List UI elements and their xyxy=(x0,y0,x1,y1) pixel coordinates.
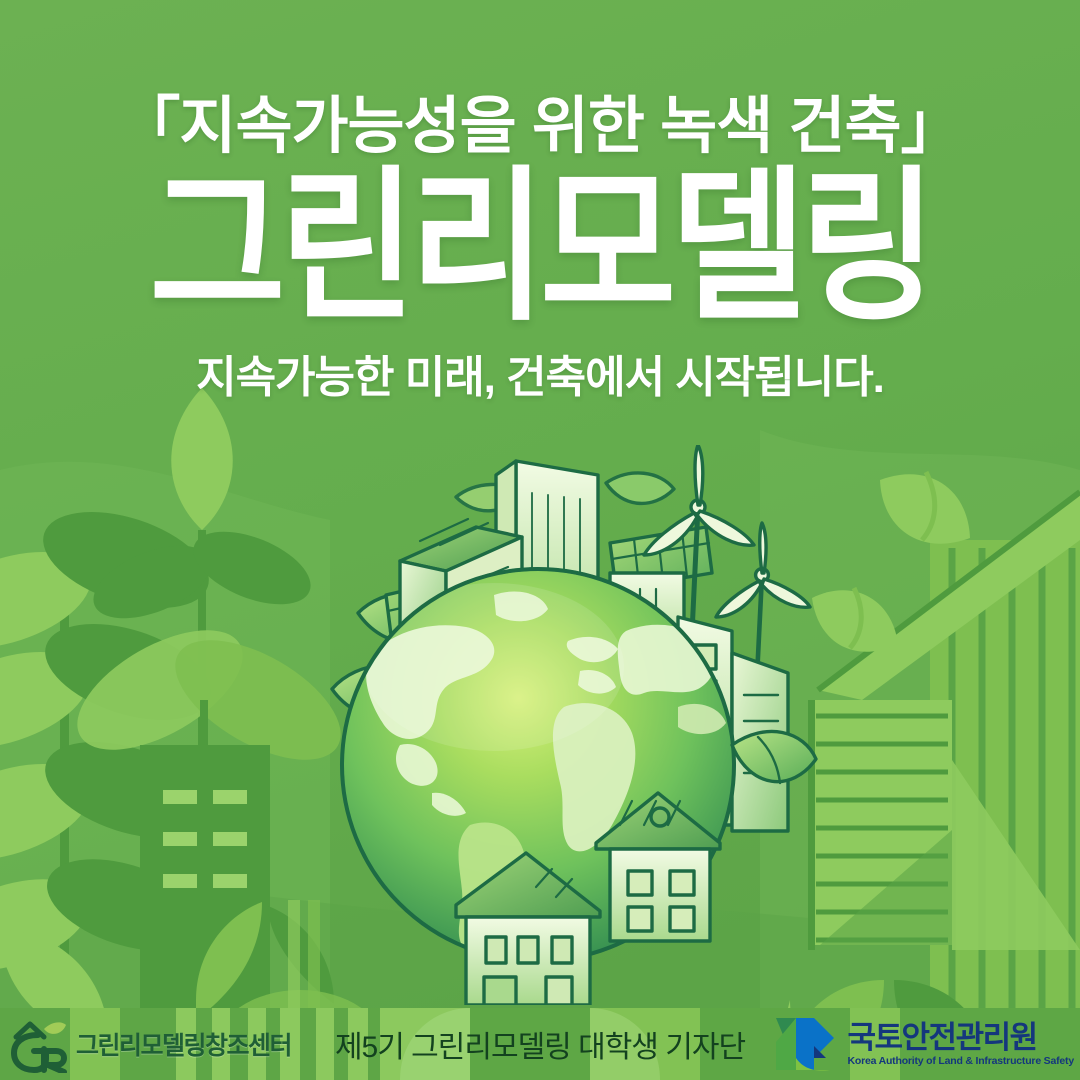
gr-logo-label: 그린리모델링창조센터 xyxy=(76,1026,291,1062)
footer-bar: 그린리모델링창조센터 제5기 그린리모델링 대학생 기자단 국토안전관리원 Ko… xyxy=(0,1008,1080,1080)
wordmark-title: 그린리모델링 xyxy=(0,172,1080,324)
kalis-arrow-icon xyxy=(774,1012,842,1076)
green-earth-illustration xyxy=(280,445,820,1005)
poster-canvas: 「지속가능성을 위한 녹색 건축」 그린리모델링 지속가능한 미래, 건축에서 … xyxy=(0,0,1080,1080)
footer-caption-text: 제5기 그린리모델링 대학생 기자단 xyxy=(335,1022,745,1066)
tagline-text: 지속가능한 미래, 건축에서 시작됩니다. xyxy=(0,356,1080,400)
kalis-label-ko: 국토안전관리원 xyxy=(848,1022,1037,1053)
footer-right-logo[interactable]: 국토안전관리원 Korea Authority of Land & Infras… xyxy=(774,1012,1075,1076)
kicker-text: 「지속가능성을 위한 녹색 건축」 xyxy=(0,96,1080,158)
kalis-label-en: Korea Authority of Land & Infrastructure… xyxy=(848,1056,1075,1067)
footer-left-logo[interactable]: 그린리모델링창조센터 xyxy=(8,1015,291,1073)
gr-logo-icon xyxy=(8,1015,70,1073)
kalis-label-group: 국토안전관리원 Korea Authority of Land & Infras… xyxy=(848,1022,1075,1067)
illustration-svg xyxy=(280,445,820,1005)
headline-block: 「지속가능성을 위한 녹색 건축」 그린리모델링 지속가능한 미래, 건축에서 … xyxy=(0,0,1080,400)
